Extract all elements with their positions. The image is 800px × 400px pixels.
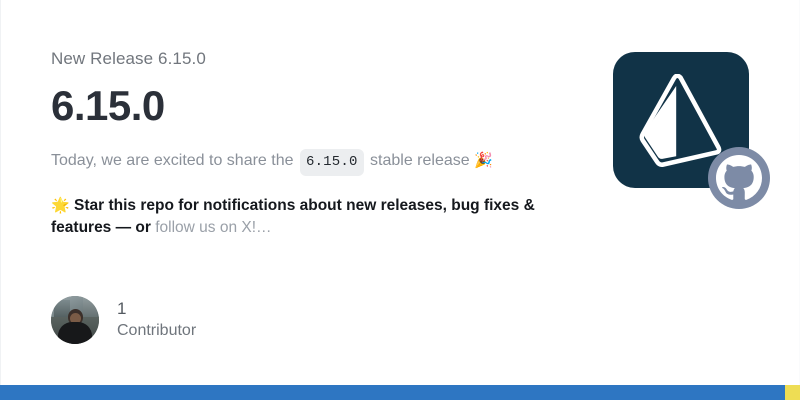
follow-us-link[interactable]: follow us on X! xyxy=(155,219,256,236)
contributor-block[interactable]: 1 Contributor xyxy=(51,296,196,344)
summary-text-before: Today, we are excited to share the xyxy=(51,152,294,169)
prisma-icon xyxy=(639,74,727,168)
version-code-chip: 6.15.0 xyxy=(300,149,364,176)
github-badge xyxy=(708,147,770,209)
release-highlight: 🌟 Star this repo for notifications about… xyxy=(51,194,581,239)
release-version-title: 6.15.0 xyxy=(51,82,591,130)
star-glow-icon: 🌟 xyxy=(51,196,70,214)
bottom-bar-primary xyxy=(0,385,785,400)
bottom-bar-accent xyxy=(785,385,800,400)
party-popper-icon: 🎉 xyxy=(474,151,493,169)
logo-block xyxy=(613,52,749,188)
contributor-count: 1 xyxy=(117,298,196,320)
contributor-label: Contributor xyxy=(117,320,196,342)
contributor-text: 1 Contributor xyxy=(117,298,196,342)
release-content: New Release 6.15.0 6.15.0 Today, we are … xyxy=(51,48,591,239)
release-summary: Today, we are excited to share the 6.15.… xyxy=(51,148,591,176)
release-card: New Release 6.15.0 6.15.0 Today, we are … xyxy=(0,0,800,385)
bottom-progress-bar xyxy=(0,385,800,400)
highlight-bold-text: Star this repo for notifications about n… xyxy=(51,197,535,236)
github-icon xyxy=(716,155,762,201)
truncation-ellipsis: … xyxy=(256,219,272,236)
release-eyebrow: New Release 6.15.0 xyxy=(51,48,591,70)
avatar-body xyxy=(58,322,92,344)
avatar[interactable] xyxy=(51,296,99,344)
summary-text-after: stable release xyxy=(370,152,470,169)
